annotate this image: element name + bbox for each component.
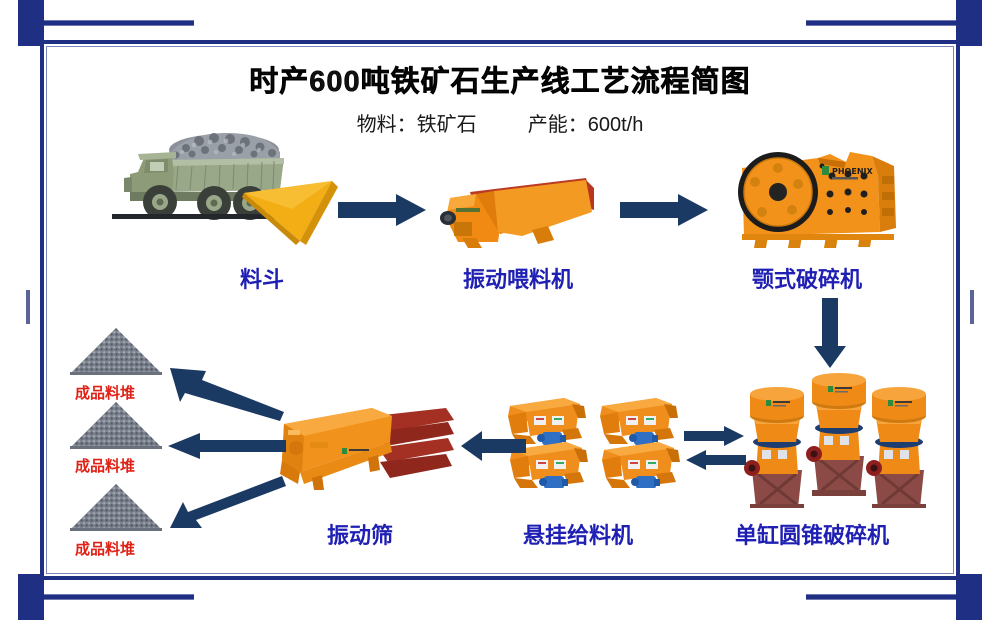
jaw-crusher-illustration: PHOENIX (722, 136, 908, 254)
corner-bar-bottom-left (44, 594, 194, 600)
corner-block-top-right (956, 0, 982, 46)
suspension-feeder-group-illustration (502, 392, 682, 488)
ore-stockpile-2-illustration (68, 400, 164, 457)
arrow-hopper-to-feeder (338, 192, 428, 228)
vibrating-screen-illustration (268, 398, 460, 492)
stockpile-3-label: 成品料堆 (75, 538, 135, 559)
node-label-cone-crusher: 单缸圆锥破碎机 (735, 518, 889, 550)
corner-tick-left (26, 290, 30, 324)
arrow-susp-to-screen (460, 430, 526, 462)
corner-bar-bottom-right (806, 594, 956, 600)
arrow-screen-to-pile-1 (166, 364, 286, 420)
arrow-screen-to-pile-2 (166, 432, 286, 460)
arrow-cone-to-susp-down (684, 450, 746, 470)
ore-stockpile-3-illustration (68, 482, 164, 539)
ore-stockpile-1-illustration (68, 326, 164, 383)
page-title: 时产600吨铁矿石生产线工艺流程简图 (0, 58, 1000, 100)
hopper-funnel-illustration (240, 175, 340, 247)
node-label-vibrating-feeder: 振动喂料机 (463, 262, 573, 294)
arrow-screen-to-pile-3 (166, 474, 286, 530)
node-label-vibrating-screen: 振动筛 (327, 518, 393, 550)
arrow-feeder-to-jaw (620, 192, 710, 228)
corner-block-bottom-left (18, 574, 44, 620)
node-label-suspension-feeder: 悬挂给料机 (523, 518, 633, 550)
subtitle-material: 物料：铁矿石 (357, 108, 477, 137)
vibrating-feeder-illustration (436, 178, 596, 250)
corner-tick-right (970, 290, 974, 324)
node-label-hopper: 料斗 (240, 262, 284, 294)
stockpile-2-label: 成品料堆 (75, 455, 135, 476)
node-label-jaw-crusher: 颚式破碎机 (752, 262, 862, 294)
arrow-cone-to-susp-up (684, 426, 746, 446)
flow-diagram-canvas: 时产600吨铁矿石生产线工艺流程简图 物料：铁矿石 产能：600t/h (0, 0, 1000, 620)
corner-bar-top-right (806, 20, 956, 26)
arrow-jaw-to-cone (812, 298, 848, 370)
corner-bar-top-left (44, 20, 194, 26)
cone-crusher-group-illustration (718, 368, 930, 508)
corner-block-top-left (18, 0, 44, 46)
subtitle-capacity: 产能：600t/h (528, 108, 644, 137)
corner-block-bottom-right (956, 574, 982, 620)
svg-text:PHOENIX: PHOENIX (832, 167, 873, 176)
